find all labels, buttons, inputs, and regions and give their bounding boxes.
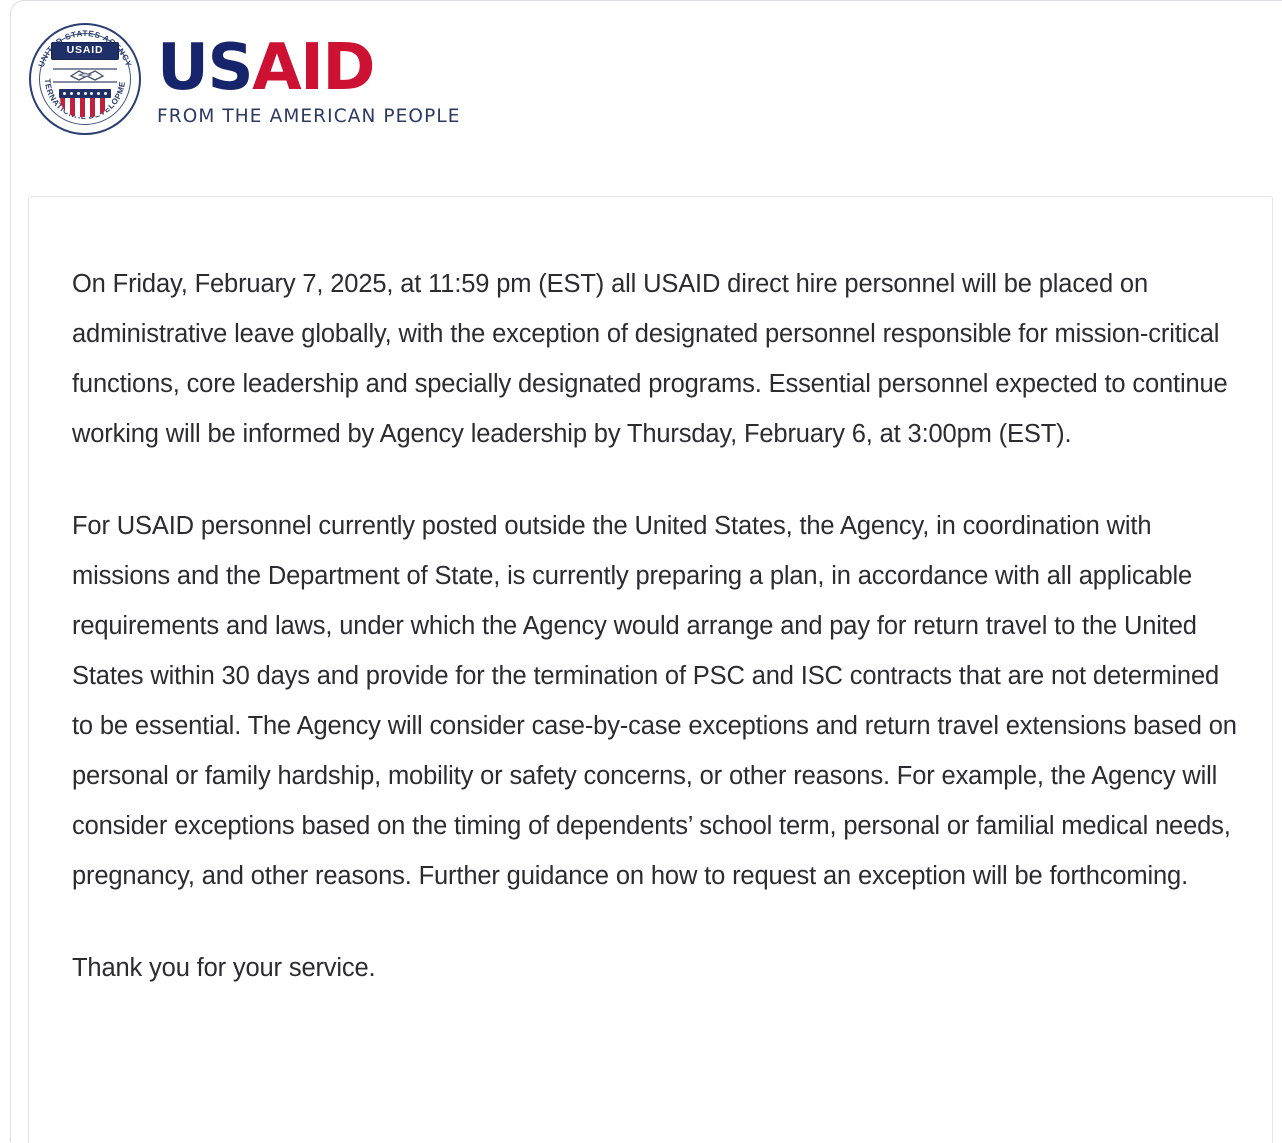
seal-banner-label: USAID (51, 42, 119, 60)
shield-star (63, 92, 66, 95)
message-paragraph: For USAID personnel currently posted out… (72, 501, 1242, 901)
message-body: On Friday, February 7, 2025, at 11:59 pm… (29, 197, 1272, 993)
message-card: On Friday, February 7, 2025, at 11:59 pm… (28, 196, 1273, 1143)
handshake-icon (51, 62, 119, 88)
shield-icon (59, 89, 111, 117)
shield-star (70, 92, 73, 95)
usaid-seal-icon: UNITED STATES AGENCY INTERNATIONAL DEVEL… (29, 23, 141, 135)
wordmark-aid: AID (252, 31, 374, 105)
seal-core: USAID (49, 42, 121, 116)
shield-star (90, 92, 93, 95)
message-paragraph: Thank you for your service. (72, 943, 1242, 993)
shield-star (104, 92, 107, 95)
usaid-wordmark: USAID FROM THE AMERICAN PEOPLE (157, 36, 461, 127)
shield-stripes (60, 98, 110, 117)
shield-star (97, 92, 100, 95)
usaid-logo: UNITED STATES AGENCY INTERNATIONAL DEVEL… (29, 23, 461, 135)
shield-star (84, 92, 87, 95)
wordmark-tagline: FROM THE AMERICAN PEOPLE (157, 106, 461, 127)
wordmark-us: US (157, 31, 252, 105)
message-paragraph: On Friday, February 7, 2025, at 11:59 pm… (72, 259, 1242, 459)
shield-star-bar (59, 89, 111, 98)
page-frame: UNITED STATES AGENCY INTERNATIONAL DEVEL… (10, 0, 1282, 1142)
shield-star (77, 92, 80, 95)
wordmark-text: USAID (157, 36, 461, 100)
